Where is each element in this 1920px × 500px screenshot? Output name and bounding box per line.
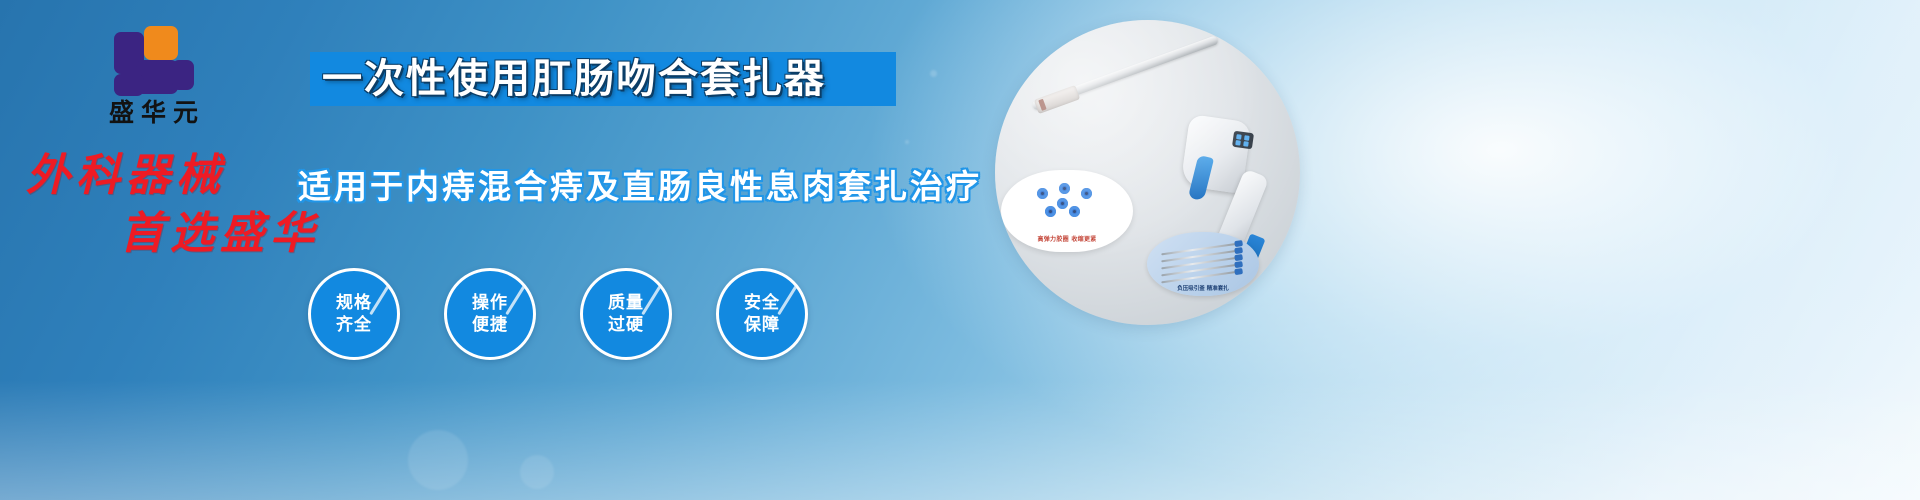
brand-name: 盛华元 [62,100,252,125]
product-photo: 高弹力胶圈 收缩更紧 负压吸引釜 精准套扎 [995,20,1300,325]
subtitle: 适用于内痔混合痔及直肠良性息肉套扎治疗 [298,160,982,208]
feature-label-line2: 齐全 [336,314,372,336]
inset-elastic-rings: 高弹力胶圈 收缩更紧 [1001,170,1133,252]
feature-label-line1: 质量 [608,292,644,314]
slash-decor-icon [505,285,526,315]
logo-mark-icon [114,26,200,96]
slash-decor-icon [777,285,798,315]
feature-badge-specification[interactable]: 规格 齐全 [308,268,400,360]
device-tip [1034,85,1080,114]
slogan-line-2: 首选盛华 [120,208,448,260]
bokeh-dot [930,70,937,77]
page-title: 一次性使用肛肠吻合套扎器 [322,54,922,104]
feature-label-line1: 安全 [744,292,780,314]
feature-label-line2: 便捷 [472,314,508,336]
feature-label-line1: 规格 [336,292,372,314]
promo-banner: 盛华元 外科器械 首选盛华 一次性使用肛肠吻合套扎器 适用于内痔混合痔及直肠良性… [0,0,1920,500]
feature-label-line2: 保障 [744,314,780,336]
bokeh-dot [905,140,909,144]
feature-badge-quality[interactable]: 质量 过硬 [580,268,672,360]
bokeh-dot [520,455,554,489]
needles-caption: 负压吸引釜 精准套扎 [1147,284,1259,292]
feature-badge-safety[interactable]: 安全 保障 [716,268,808,360]
tube-body [1224,316,1300,325]
slash-decor-icon [641,285,662,315]
bokeh-dot [408,430,468,490]
device-button-pad [1232,131,1254,150]
brand-logo: 盛华元 [62,26,252,125]
feature-label-line2: 过硬 [608,314,644,336]
feature-label-line1: 操作 [472,292,508,314]
feature-badge-list: 规格 齐全 操作 便捷 质量 过硬 安全 保障 [308,268,808,360]
inset-tube [1207,296,1300,325]
slash-decor-icon [369,285,390,315]
inset-needles: 负压吸引釜 精准套扎 [1147,232,1259,296]
rings-caption: 高弹力胶圈 收缩更紧 [1001,234,1133,243]
feature-badge-operation[interactable]: 操作 便捷 [444,268,536,360]
